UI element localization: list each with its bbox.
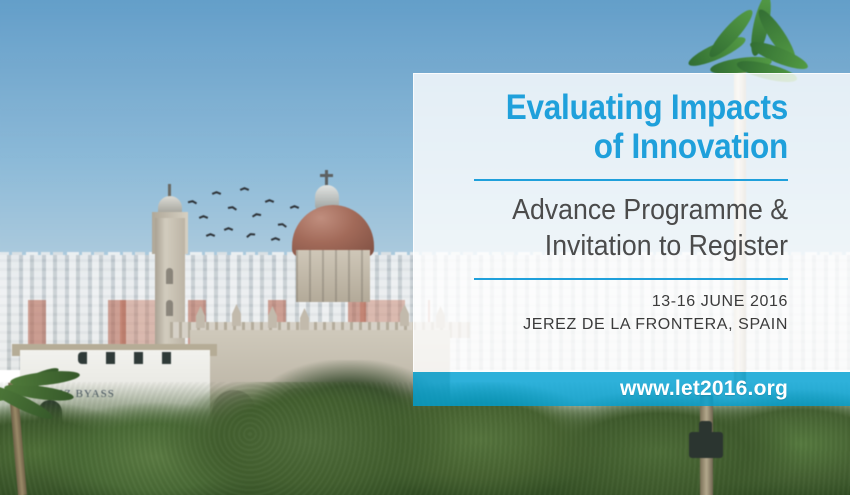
content-panel-inner: Evaluating Impacts of Innovation Advance… — [414, 74, 850, 372]
divider-rule-bottom — [474, 278, 788, 280]
event-location: JEREZ DE LA FRONTERA, SPAIN — [444, 313, 788, 336]
website-url-bar[interactable]: www.let2016.org — [413, 372, 850, 406]
banner-title-line-2: of Innovation — [478, 127, 788, 166]
banner-title-line-1: Evaluating Impacts — [478, 88, 788, 127]
website-url-text[interactable]: www.let2016.org — [620, 377, 850, 401]
banner-subtitle-line-2: Invitation to Register — [472, 228, 788, 264]
content-panel: Evaluating Impacts of Innovation Advance… — [413, 73, 850, 372]
conference-banner: ZÁLEZ BYASS Evaluating Impacts — [0, 0, 850, 495]
event-dates: 13-16 JUNE 2016 — [444, 290, 788, 313]
divider-rule-top — [474, 179, 788, 181]
banner-subtitle-line-1: Advance Programme & — [472, 192, 788, 228]
